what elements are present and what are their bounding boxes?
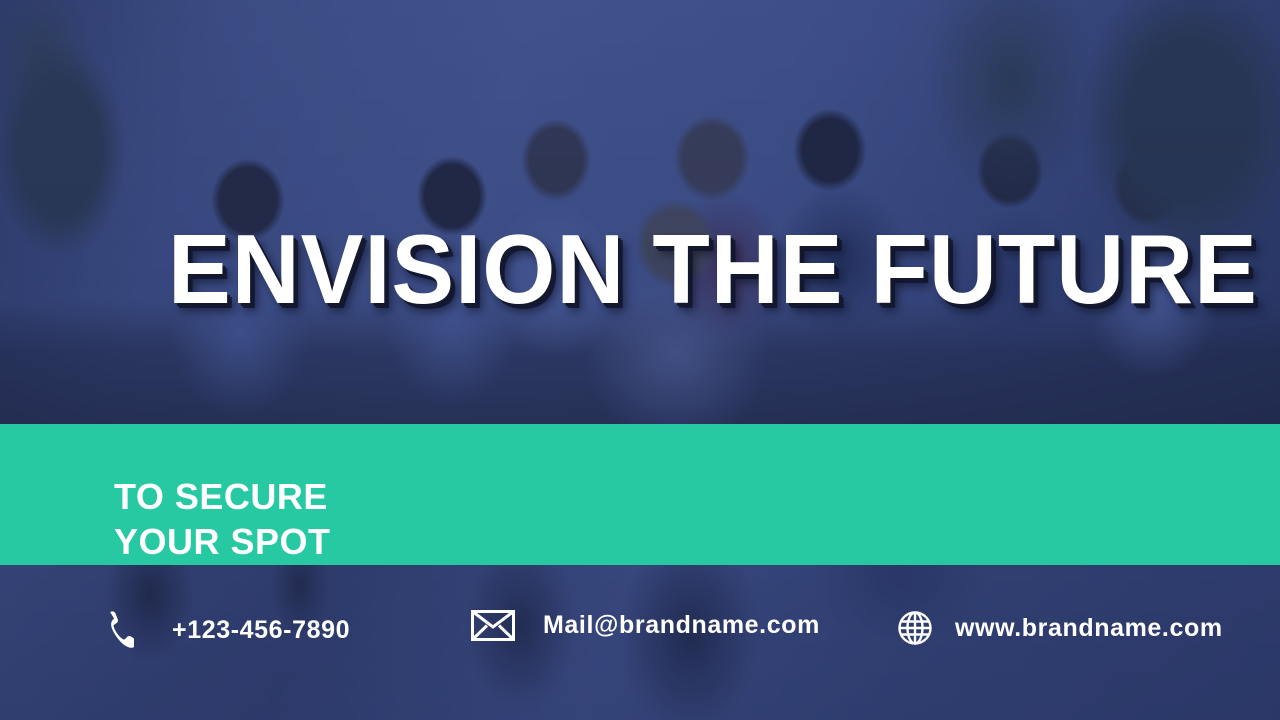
email-address: Mail@brandname.com <box>543 611 820 640</box>
cta-line-1: TO SECURE <box>114 474 331 519</box>
phone-number: +123-456-7890 <box>172 616 350 645</box>
phone-icon <box>104 610 134 650</box>
cta-line-2: YOUR SPOT <box>114 519 331 564</box>
contact-phone[interactable]: +123-456-7890 <box>104 610 350 650</box>
page-title: ENVISION THE FUTURE <box>168 219 1090 319</box>
hero-blue-tint <box>0 0 1280 424</box>
globe-icon <box>897 610 933 646</box>
contact-email[interactable]: Mail@brandname.com <box>471 610 820 641</box>
envelope-icon <box>471 610 515 641</box>
website-url: www.brandname.com <box>955 614 1223 643</box>
hero-section: ENVISION THE FUTURE <box>0 0 1280 424</box>
event-details-band: TO SECURE YOUR SPOT 09:00 AM 12 OCT, 202… <box>0 424 1280 565</box>
contact-website[interactable]: www.brandname.com <box>897 610 1223 646</box>
contact-footer: +123-456-7890 Mail@brandname.com www.bra… <box>0 565 1280 720</box>
event-poster: ENVISION THE FUTURE TO SECURE YOUR SPOT … <box>0 0 1280 720</box>
cta-text-block: TO SECURE YOUR SPOT <box>114 474 331 564</box>
